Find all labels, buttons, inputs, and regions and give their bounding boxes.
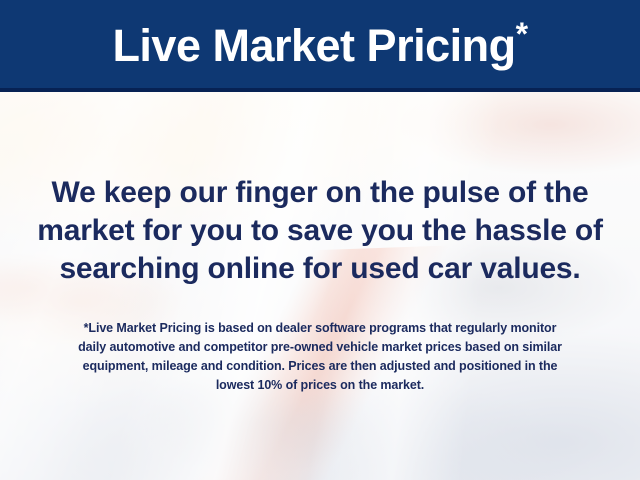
- header-banner: Live Market Pricing*: [0, 0, 640, 92]
- headline-message: We keep our finger on the pulse of the m…: [0, 174, 640, 288]
- disclaimer-line-3: equipment, mileage and condition. Prices…: [24, 357, 616, 376]
- disclaimer-line-1: *Live Market Pricing is based on dealer …: [24, 319, 616, 338]
- headline-line-2: market for you to save you the hassle of: [14, 212, 626, 250]
- live-market-pricing-ad: Live Market Pricing* We keep our finger …: [0, 0, 640, 480]
- page-title-text: Live Market Pricing: [112, 20, 515, 71]
- page-title-asterisk: *: [516, 16, 528, 52]
- disclaimer-text: *Live Market Pricing is based on dealer …: [0, 319, 640, 395]
- headline-line-1: We keep our finger on the pulse of the: [14, 174, 626, 212]
- content-area: We keep our finger on the pulse of the m…: [0, 92, 640, 480]
- page-title: Live Market Pricing*: [112, 23, 527, 68]
- disclaimer-line-2: daily automotive and competitor pre-owne…: [24, 338, 616, 357]
- disclaimer-line-4: lowest 10% of prices on the market.: [24, 376, 616, 395]
- headline-line-3: searching online for used car values.: [14, 250, 626, 288]
